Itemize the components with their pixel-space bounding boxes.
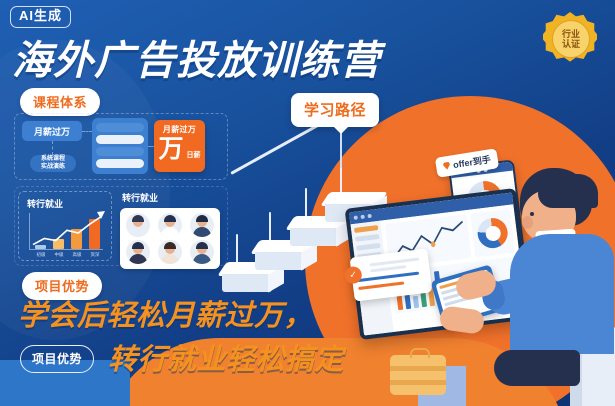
bar-chart-card: 转行就业 初级中级高级资深 (18, 191, 112, 261)
headline-line-2: 转行就业轻松搞定 (108, 336, 344, 378)
avatars-grid (120, 208, 220, 269)
poster-canvas: AI生成 海外广告投放训练营 行业 认证 课程体系 月薪过万 系统课程 实战演练… (0, 0, 615, 406)
avatar (190, 213, 214, 237)
suitcase-handle (410, 348, 430, 358)
diagram-node-sub-line2: 实战演练 (41, 164, 65, 172)
chart-trend-line (29, 210, 105, 250)
diagram-connector-vertical (52, 141, 53, 155)
person-leg (494, 350, 580, 386)
person-illustration (492, 168, 615, 406)
avatar (126, 240, 150, 264)
offer-chip-label: offer到手 (452, 152, 492, 171)
popup-progress-blue (357, 272, 419, 283)
suitcase-illustration (390, 355, 446, 395)
result-card-suffix: 日薪 (187, 152, 201, 159)
page-title: 海外广告投放训练营 (12, 28, 381, 86)
location-pin-icon (443, 161, 451, 170)
sidebar-item-active (354, 225, 378, 233)
tag-advantage-bottom: 项目优势 (20, 345, 94, 373)
window-dot-icon (354, 215, 358, 219)
avatars-title: 转行就业 (122, 191, 220, 204)
dashboard-mini-bar (413, 296, 419, 309)
diagram-result-card: 月薪过万 万 日薪 (154, 120, 205, 172)
person-hair-front (538, 174, 598, 208)
window-dot-icon (367, 214, 371, 218)
seal-text-line2: 认证 (562, 39, 580, 49)
module-row-3 (96, 147, 144, 156)
person-eye (530, 212, 534, 216)
learning-path-bubble: 学习路径 (291, 93, 379, 127)
tag-curriculum: 课程体系 (20, 88, 100, 116)
chart-x-tick-label: 资深 (88, 252, 102, 258)
result-card-big-text: 万 (158, 137, 183, 162)
avatars-card-wrap: 转行就业 (120, 191, 220, 261)
diagram-node-start: 月薪过万 (22, 121, 82, 141)
diagram-connector-1 (82, 131, 92, 132)
chart-x-tick-label: 高级 (70, 252, 84, 258)
result-card-title: 月薪过万 (163, 124, 196, 135)
diagram-node-sub: 系统课程 实战演练 (30, 155, 76, 172)
window-dot-icon (360, 215, 364, 219)
sidebar-item (356, 243, 380, 251)
module-row-2 (96, 135, 144, 144)
suitcase-strap (390, 380, 446, 385)
person-ear (522, 216, 533, 229)
suitcase-strap (390, 366, 446, 371)
seal-text-line1: 行业 (562, 29, 580, 39)
certification-seal-badge: 行业 认证 (543, 12, 597, 66)
seal-inner-circle: 行业 认证 (552, 20, 590, 58)
headline-line-1: 学会后轻松月薪过万， (18, 292, 313, 334)
avatar (190, 240, 214, 264)
sidebar-item (355, 234, 379, 242)
chart-x-tick-label: 初级 (34, 252, 48, 258)
avatar (158, 240, 182, 264)
avatar (126, 213, 150, 237)
module-row-1 (96, 123, 144, 132)
avatar (158, 213, 182, 237)
popup-text-line (370, 265, 406, 272)
popup-text-line (369, 257, 419, 266)
bar-chart-title: 转行就业 (27, 197, 63, 210)
ai-generated-badge: AI生成 (10, 6, 71, 28)
module-row-4 (96, 159, 144, 168)
result-card-value: 万 日薪 (158, 137, 200, 162)
diagram-module-stack (92, 118, 148, 174)
chart-x-tick-label: 中级 (52, 252, 66, 258)
popup-progress-orange (358, 281, 404, 290)
diagram-node-sub-line1: 系统课程 (41, 156, 65, 164)
